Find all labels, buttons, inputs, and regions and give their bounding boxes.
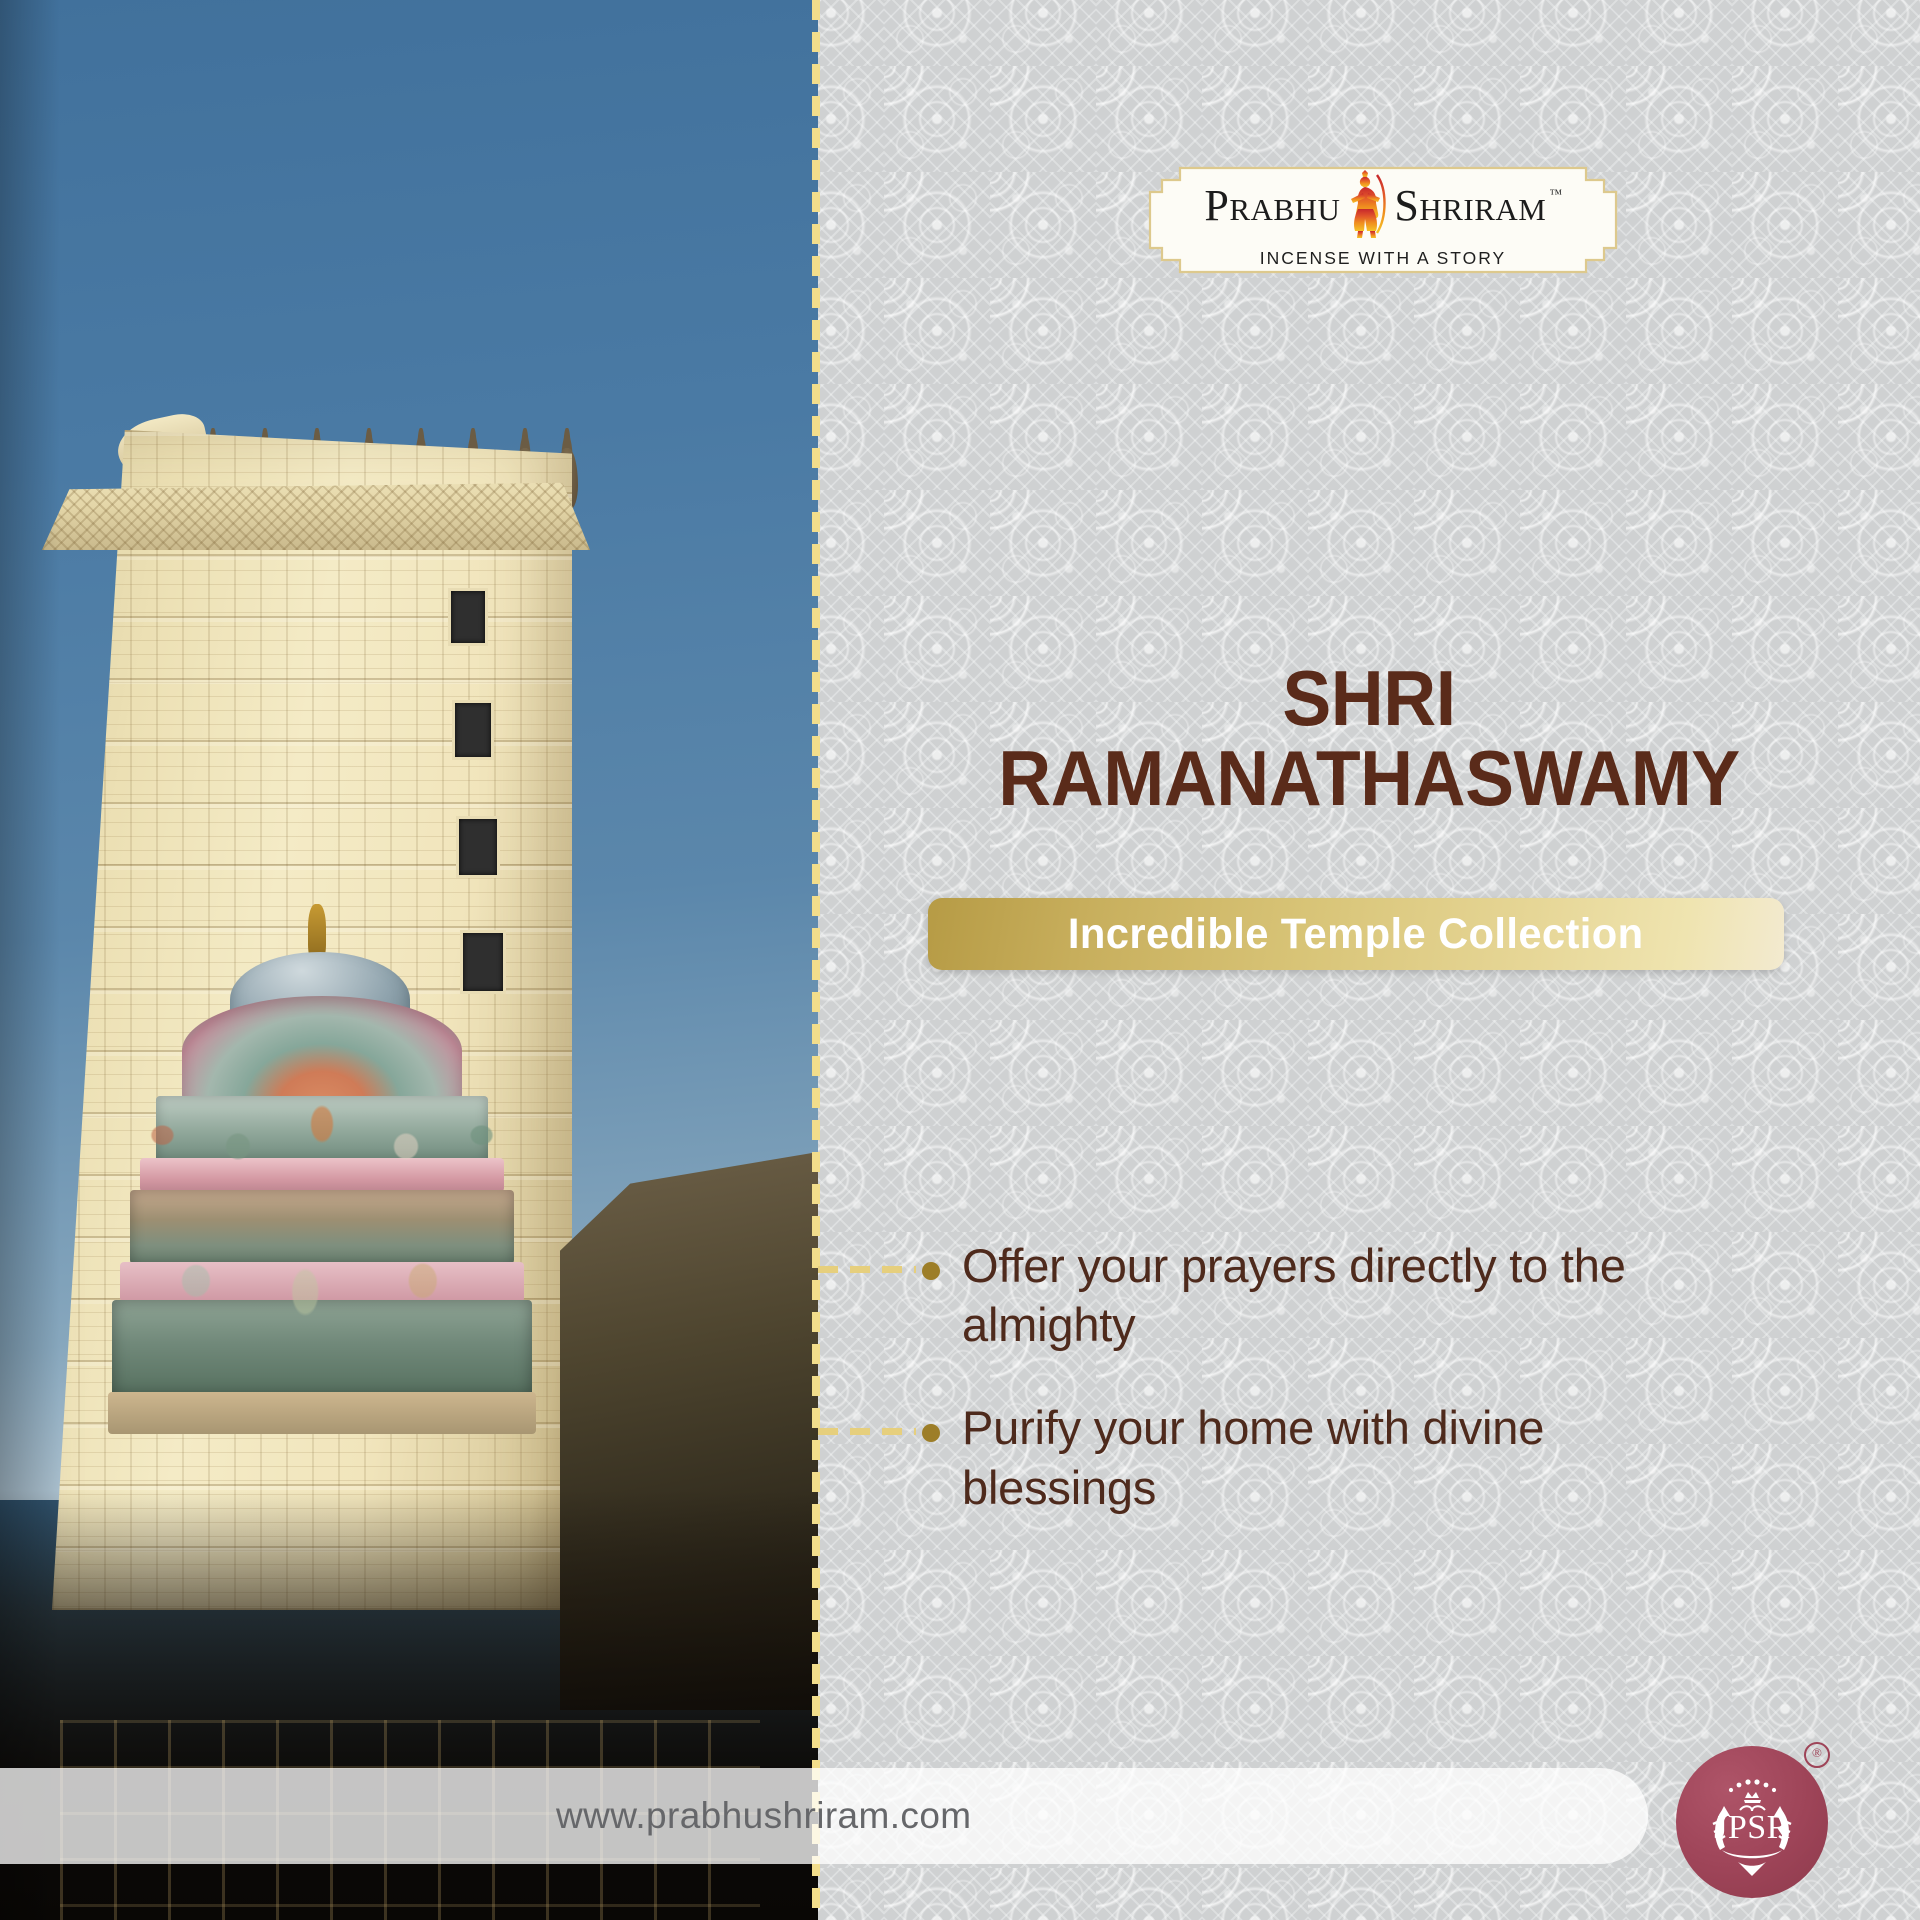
- temple-photo: [0, 0, 818, 1920]
- logo-word-shriram: Shriram: [1394, 184, 1546, 228]
- registered-trademark-symbol: ®: [1804, 1742, 1830, 1768]
- collection-badge-label: Incredible Temple Collection: [1068, 910, 1644, 959]
- list-item: Offer your prayers directly to the almig…: [818, 1236, 1920, 1354]
- brand-logo-badge[interactable]: Prabhu: [1140, 152, 1626, 288]
- list-item: Purify your home with divine blessings: [818, 1398, 1920, 1516]
- list-item-label: Offer your prayers directly to the almig…: [962, 1236, 1732, 1354]
- bullet-dot-icon: [922, 1262, 940, 1280]
- tower-window: [456, 816, 500, 878]
- dashed-leader-line: [818, 1266, 916, 1273]
- deity-figurines: [112, 900, 532, 1460]
- page-title: SHRI RAMANATHASWAMY: [818, 660, 1920, 817]
- photo-edge-vignette: [0, 0, 60, 1920]
- collection-badge: Incredible Temple Collection: [928, 898, 1784, 970]
- logo-word-prabhu: Prabhu: [1204, 184, 1340, 228]
- dashed-leader-line: [818, 1428, 916, 1435]
- website-url-bar[interactable]: www.prabhushriram.com: [0, 1768, 1648, 1864]
- colorful-shrine-sculptures: [112, 900, 532, 1460]
- website-url-label: www.prabhushriram.com: [556, 1795, 972, 1837]
- seal-crest-icon: JPSR: [1676, 1746, 1828, 1898]
- list-item-label: Purify your home with divine blessings: [962, 1398, 1732, 1516]
- jpsr-seal-logo: JPSR ®: [1676, 1746, 1828, 1898]
- benefits-list: Offer your prayers directly to the almig…: [818, 1236, 1920, 1561]
- trademark-symbol: ™: [1549, 187, 1562, 200]
- title-line-2: RAMANATHASWAMY: [851, 740, 1887, 816]
- dashed-vertical-divider: [812, 0, 820, 1920]
- bullet-dot-icon: [922, 1424, 940, 1442]
- logo-tagline: INCENSE WITH A STORY: [1260, 248, 1506, 269]
- svg-text:JPSR: JPSR: [1714, 1809, 1790, 1846]
- tower-window: [448, 588, 488, 646]
- poster-canvas: Prabhu: [0, 0, 1920, 1920]
- title-line-1: SHRI: [851, 660, 1887, 736]
- tower-window: [452, 700, 494, 760]
- rama-with-bow-icon: [1344, 169, 1390, 239]
- logo-wordmark: Prabhu: [1204, 171, 1561, 241]
